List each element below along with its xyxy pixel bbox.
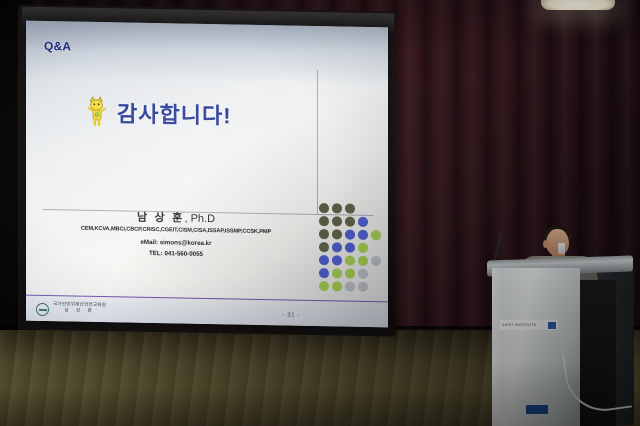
podium-logo: KAIST INSTITUTE: [500, 320, 558, 330]
yellow-cat-mascot-icon: [86, 96, 110, 128]
dot-grid-cell: [332, 203, 342, 213]
presenter-degree: , Ph.D: [184, 213, 215, 226]
dot-grid-cell: [371, 282, 381, 292]
dot-grid-cell: [332, 229, 342, 239]
presentation-slide: Q&A 감사합니다! 남 상 훈, Ph.D CEM,KCVA,MBCI,C: [26, 21, 388, 328]
dot-grid-cell: [332, 216, 342, 226]
slide-section-title: Q&A: [44, 39, 71, 54]
decorative-dot-grid: [319, 203, 384, 308]
presenter-telephone: TEL: 041-560-0055: [26, 248, 326, 260]
dot-grid-cell: [319, 242, 329, 252]
dot-grid-cell: [345, 204, 355, 214]
speaker-ear: [543, 240, 548, 248]
dot-grid-cell: [345, 243, 355, 253]
dot-grid-cell: [345, 269, 355, 279]
dot-grid-cell: [332, 242, 342, 252]
dot-grid-cell: [319, 268, 329, 278]
dot-grid-cell: [371, 269, 381, 279]
thanks-text: 감사합니다!: [117, 96, 232, 130]
dot-grid-cell: [358, 243, 368, 253]
dot-grid-cell: [358, 269, 368, 279]
thanks-block: 감사합니다!: [86, 96, 232, 131]
dot-grid-cell: [332, 255, 342, 265]
footer-organization: 국가민방위재난안전교육원 남 상 훈: [53, 301, 106, 314]
dot-grid-cell: [358, 282, 368, 292]
footer-org-sub: 남 상 훈: [53, 307, 106, 314]
dot-grid-cell: [332, 281, 342, 291]
dot-grid-cell: [345, 256, 355, 266]
water-glass: [558, 243, 565, 254]
podium-body-highlight: [492, 268, 502, 426]
dot-grid-cell: [319, 216, 329, 226]
dot-grid-cell: [345, 282, 355, 292]
dot-grid-cell: [345, 230, 355, 240]
podium-base-badge: [526, 405, 548, 414]
dot-grid-cell: [371, 230, 381, 240]
dot-grid-cell: [358, 204, 368, 214]
dot-grid-cell: [358, 217, 368, 227]
footer-org-name: 국가민방위재난안전교육원: [53, 301, 106, 307]
dot-grid-cell: [345, 217, 355, 227]
podium-logo-text: KAIST INSTITUTE: [502, 323, 536, 327]
presenter-email: eMail: simons@korea.kr: [26, 237, 326, 249]
presenter-name: 남 상 훈: [137, 212, 184, 225]
dot-grid-cell: [319, 203, 329, 213]
podium-body: [492, 268, 580, 426]
dot-grid-cell: [371, 204, 381, 214]
dot-grid-cell: [371, 243, 381, 253]
ceiling-light-icon: [541, 0, 615, 10]
slide-vertical-divider: [317, 70, 318, 215]
dot-grid-cell: [319, 281, 329, 291]
dot-grid-cell: [371, 217, 381, 227]
auditorium-scene: Q&A 감사합니다! 남 상 훈, Ph.D CEM,KCVA,MBCI,C: [0, 0, 640, 426]
slide-page-number: - 31 -: [282, 312, 300, 318]
dot-grid-cell: [358, 230, 368, 240]
institute-logo-icon: [36, 303, 49, 316]
dot-grid-cell: [371, 256, 381, 266]
dot-grid-cell: [319, 229, 329, 239]
dot-grid-cell: [319, 255, 329, 265]
screen-glare: [26, 21, 388, 86]
blue-square-mark-icon: [548, 322, 556, 329]
dot-grid-cell: [332, 268, 342, 278]
dot-grid-cell: [358, 256, 368, 266]
